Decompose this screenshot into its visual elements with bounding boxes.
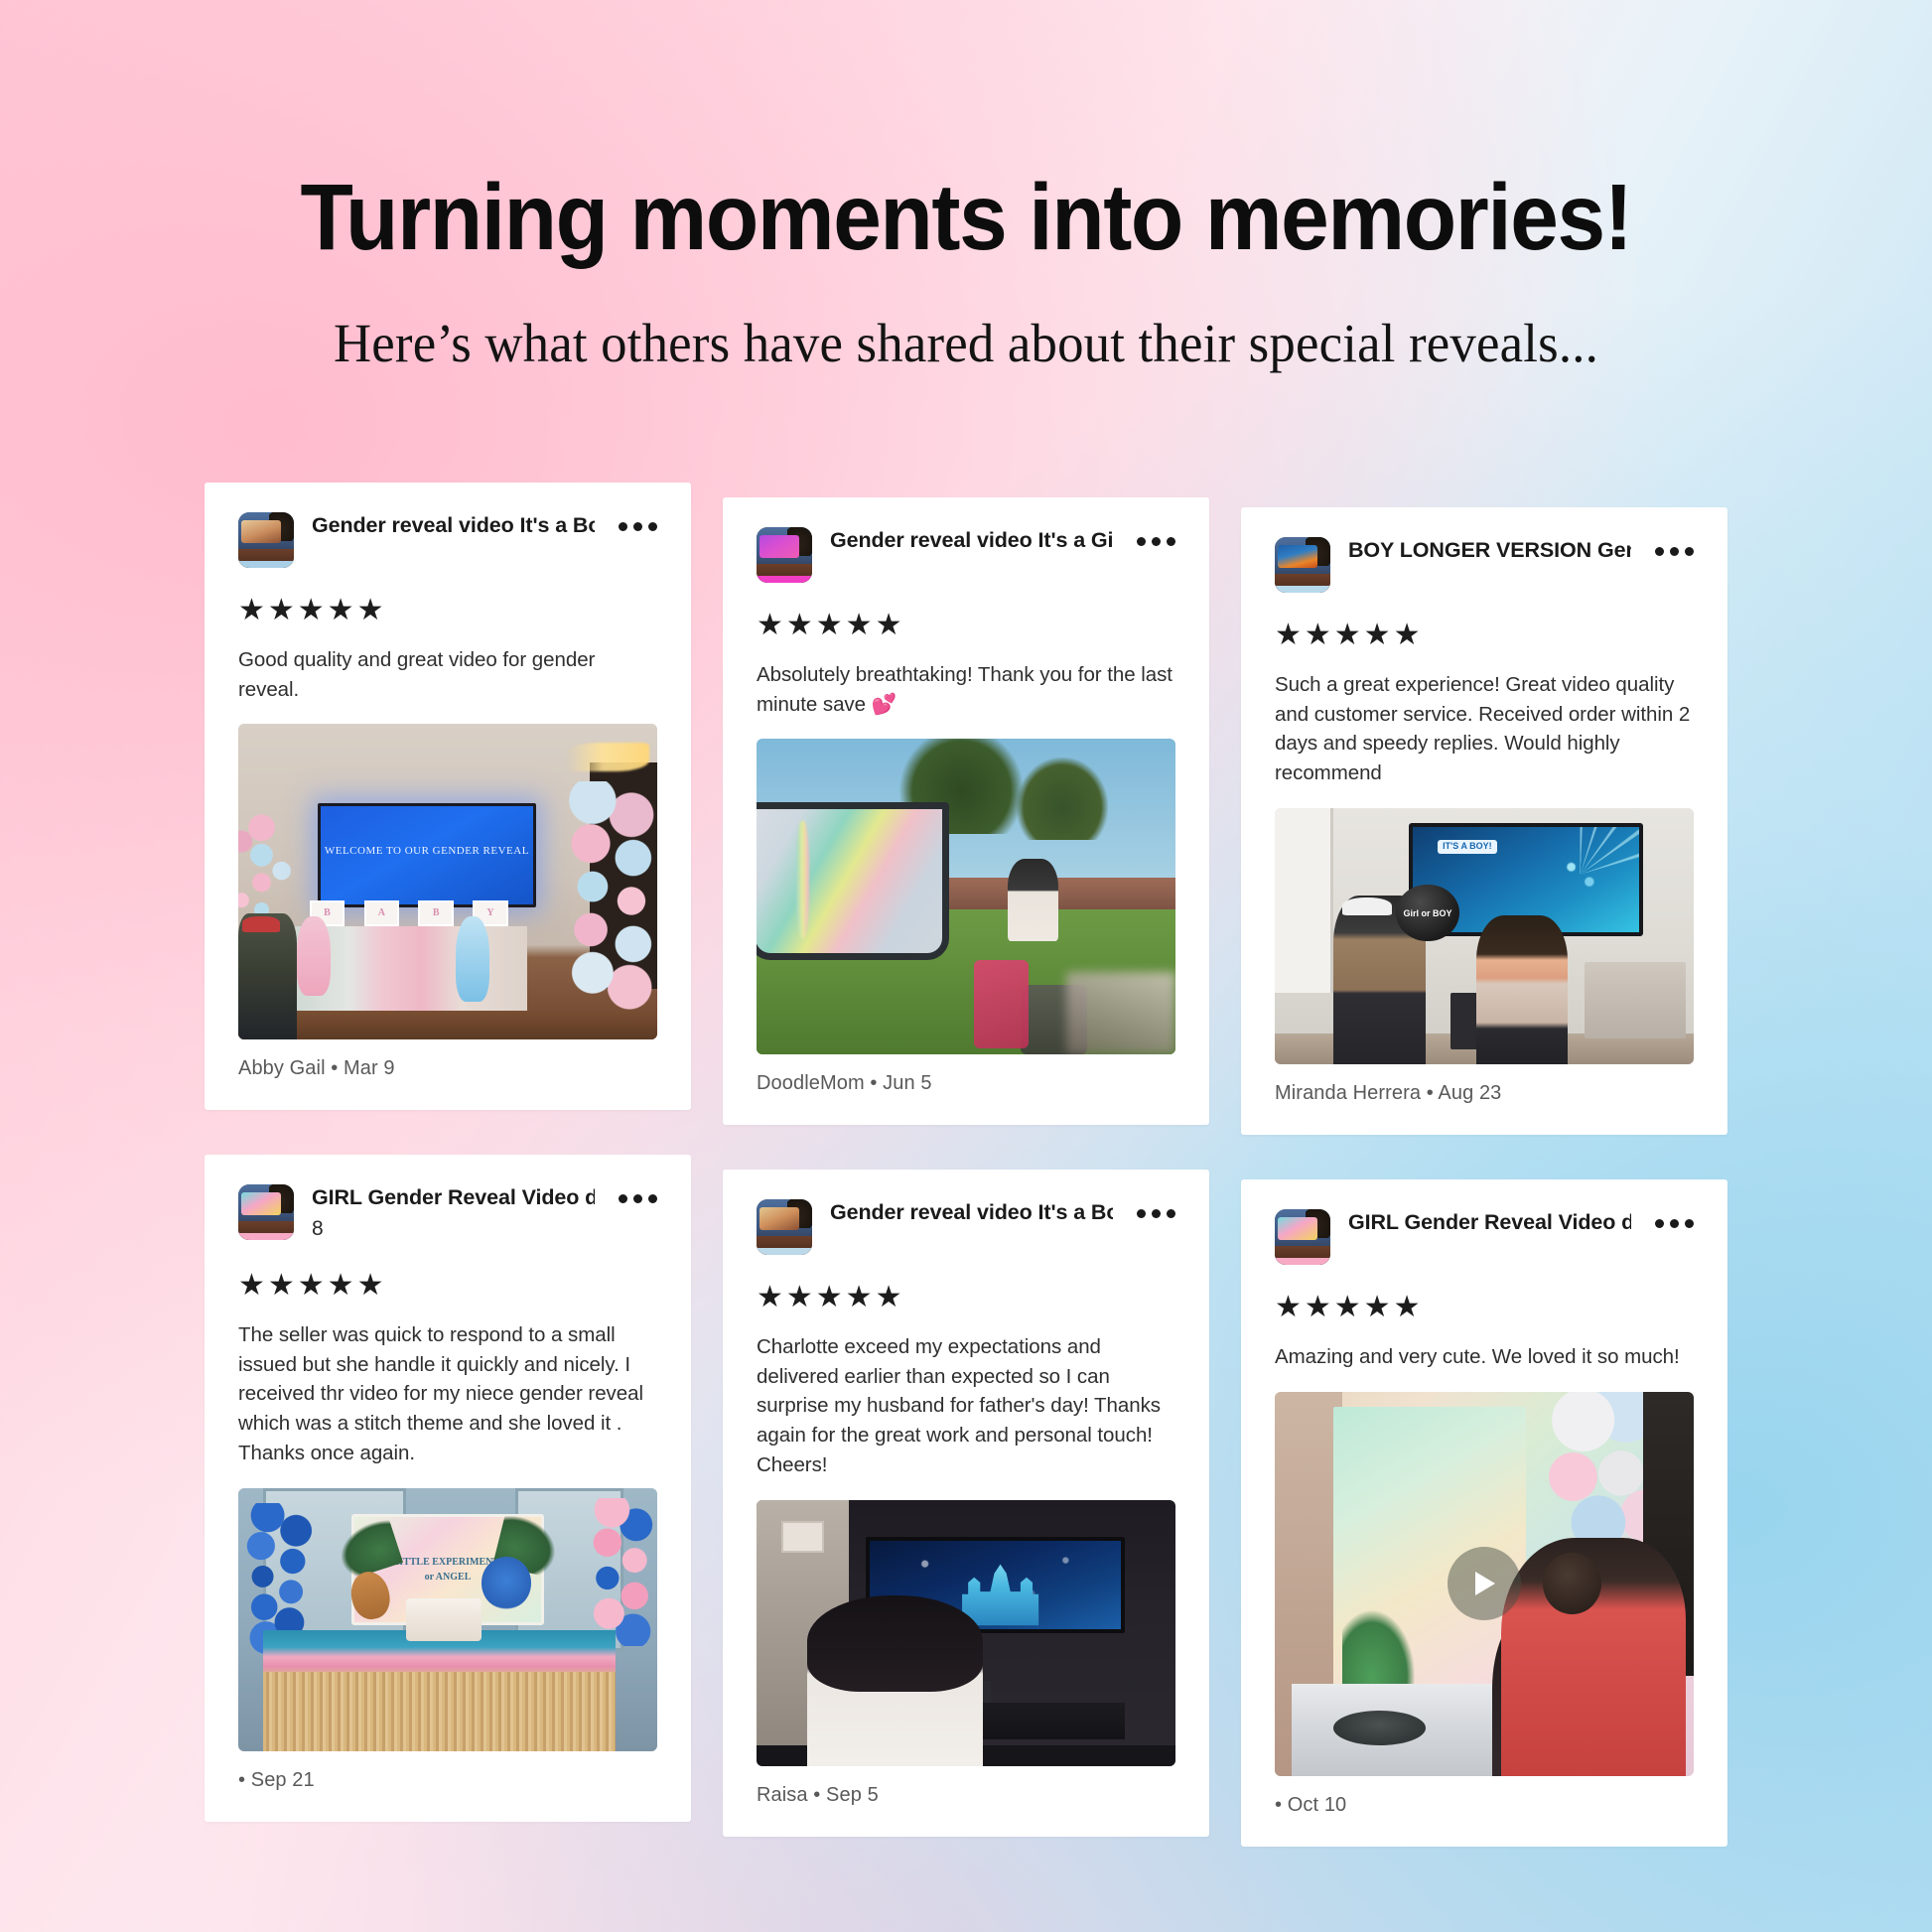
photo-screen-caption: WELCOME TO OUR GENDER REVEAL [321, 843, 532, 860]
review-text: Such a great experience! Great video qua… [1275, 670, 1694, 788]
ellipsis-icon[interactable] [1137, 527, 1175, 546]
ellipsis-icon[interactable] [1655, 1209, 1694, 1228]
reviews-grid: Gender reveal video It's a Boy! Vide... … [205, 483, 1731, 1847]
heart-emoji-icon: 💕 [872, 693, 897, 716]
product-thumbnail-icon[interactable] [757, 1199, 812, 1255]
review-card-header: GIRL Gender Reveal Video digital ... 8 [238, 1184, 657, 1243]
review-photo[interactable] [757, 739, 1175, 1054]
product-title[interactable]: Gender reveal video It's a Boy! Vide... [830, 1199, 1113, 1227]
product-title-block: Gender reveal video It's a Boy! Vide... [830, 1199, 1113, 1227]
review-card-header: GIRL Gender Reveal Video digital ... [1275, 1209, 1694, 1265]
review-photo[interactable]: IT'S A BOY! Girl or BOY [1275, 808, 1694, 1064]
star-rating: ★★★★★ [757, 611, 1175, 640]
review-text: Absolutely breathtaking! Thank you for t… [757, 660, 1175, 719]
review-photo[interactable]: IS OUR LITTLE EXPERIMENT STITCH or ANGEL [238, 1488, 657, 1752]
review-card[interactable]: Gender reveal video It's a Girl! Vide...… [723, 497, 1209, 1125]
review-video[interactable] [1275, 1392, 1694, 1776]
review-footer: • Sep 21 [238, 1751, 657, 1792]
review-photo[interactable]: WELCOME TO OUR GENDER REVEAL B A B Y [238, 724, 657, 1039]
review-card-header: Gender reveal video It's a Boy! Vide... [757, 1199, 1175, 1255]
ellipsis-icon[interactable] [619, 512, 657, 531]
review-footer: DoodleMom • Jun 5 [757, 1054, 1175, 1095]
review-card-header: BOY LONGER VERSION Gender ... [1275, 537, 1694, 593]
review-text: Amazing and very cute. We loved it so mu… [1275, 1342, 1694, 1372]
star-rating: ★★★★★ [238, 596, 657, 625]
page-title: Turning moments into memories! [77, 171, 1855, 265]
product-title[interactable]: GIRL Gender Reveal Video digital ... [312, 1184, 595, 1212]
review-text: Charlotte exceed my expectations and del… [757, 1332, 1175, 1480]
product-title[interactable]: Gender reveal video It's a Girl! Vide... [830, 527, 1113, 555]
review-text-body: Absolutely breathtaking! Thank you for t… [757, 663, 1173, 716]
review-card[interactable]: Gender reveal video It's a Boy! Vide... … [723, 1170, 1209, 1837]
review-card-header: Gender reveal video It's a Boy! Vide... [238, 512, 657, 568]
review-card[interactable]: GIRL Gender Reveal Video digital ... ★★★… [1241, 1179, 1727, 1847]
review-text: The seller was quick to respond to a sma… [238, 1320, 657, 1468]
product-title[interactable]: BOY LONGER VERSION Gender ... [1348, 537, 1631, 565]
star-rating: ★★★★★ [1275, 1293, 1694, 1322]
page-subtitle: Here’s what others have shared about the… [39, 313, 1893, 374]
review-footer: Abby Gail • Mar 9 [238, 1039, 657, 1080]
product-title[interactable]: GIRL Gender Reveal Video digital ... [1348, 1209, 1631, 1237]
product-title-block: Gender reveal video It's a Boy! Vide... [312, 512, 595, 540]
photo-badge: IT'S A BOY! [1438, 840, 1496, 854]
ellipsis-icon[interactable] [1137, 1199, 1175, 1218]
ellipsis-icon[interactable] [1655, 537, 1694, 556]
star-rating: ★★★★★ [238, 1271, 657, 1301]
product-title-block: BOY LONGER VERSION Gender ... [1348, 537, 1631, 565]
product-thumbnail-icon[interactable] [238, 1184, 294, 1240]
review-card[interactable]: GIRL Gender Reveal Video digital ... 8 ★… [205, 1155, 691, 1822]
product-title-block: GIRL Gender Reveal Video digital ... [1348, 1209, 1631, 1237]
page-header: Turning moments into memories! Here’s wh… [0, 0, 1932, 374]
product-title-block: GIRL Gender Reveal Video digital ... 8 [312, 1184, 595, 1243]
product-thumbnail-icon[interactable] [1275, 537, 1330, 593]
star-rating: ★★★★★ [757, 1283, 1175, 1312]
product-thumbnail-icon[interactable] [238, 512, 294, 568]
review-footer: Raisa • Sep 5 [757, 1766, 1175, 1807]
product-subtitle: 8 [312, 1214, 595, 1243]
review-footer: • Oct 10 [1275, 1776, 1694, 1817]
review-card-header: Gender reveal video It's a Girl! Vide... [757, 527, 1175, 583]
review-footer: Miranda Herrera • Aug 23 [1275, 1064, 1694, 1105]
product-thumbnail-icon[interactable] [1275, 1209, 1330, 1265]
product-thumbnail-icon[interactable] [757, 527, 812, 583]
review-card[interactable]: Gender reveal video It's a Boy! Vide... … [205, 483, 691, 1110]
product-title-block: Gender reveal video It's a Girl! Vide... [830, 527, 1113, 555]
play-icon[interactable] [1448, 1547, 1521, 1620]
review-showcase-page: Turning moments into memories! Here’s wh… [0, 0, 1932, 1932]
review-photo[interactable] [757, 1500, 1175, 1766]
product-title[interactable]: Gender reveal video It's a Boy! Vide... [312, 512, 595, 540]
review-card[interactable]: BOY LONGER VERSION Gender ... ★★★★★ Such… [1241, 507, 1727, 1135]
ellipsis-icon[interactable] [619, 1184, 657, 1203]
review-text: Good quality and great video for gender … [238, 645, 657, 704]
star-rating: ★★★★★ [1275, 621, 1694, 650]
